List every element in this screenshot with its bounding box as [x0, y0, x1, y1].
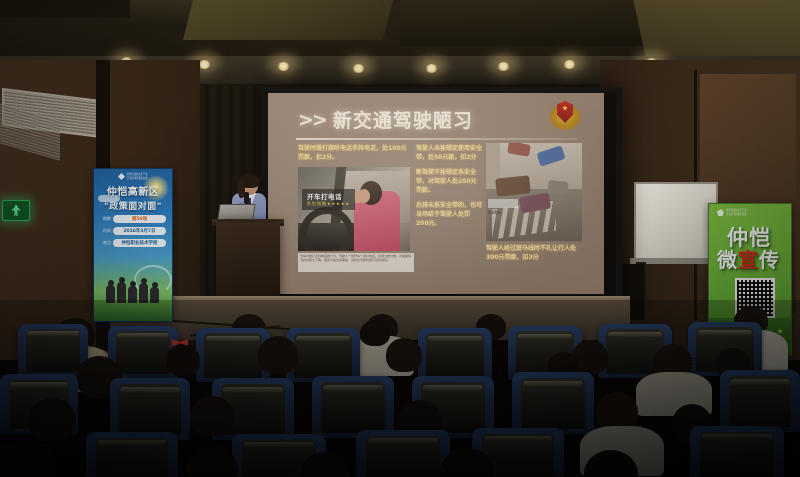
- ceiling-downlight: [497, 62, 510, 71]
- banner-info-row: 期数 第56场: [100, 215, 166, 223]
- car-icon: [507, 143, 531, 157]
- microphone-icon: [244, 192, 249, 204]
- car-icon: [547, 180, 568, 195]
- logo-line-2: 开发区管理委员会: [127, 177, 148, 181]
- photo-caption-badge: 开车打电话 危险指数★★★★★: [302, 189, 355, 210]
- banner-title-line-2: "政策面对面": [94, 199, 172, 212]
- car-icon: [495, 175, 531, 196]
- photo-fine-print: 驾车时拨打手持电话的行为，驾驶人一边开车一边打电话，注意力被分散，对路面情况的判…: [298, 253, 414, 272]
- row-key: 期数: [100, 216, 111, 222]
- title-char-2: 宣: [738, 248, 759, 272]
- slide-divider: [296, 138, 578, 140]
- title-char-1: 微: [717, 248, 738, 272]
- audience-shading: [0, 300, 800, 477]
- banner-logo: 仲恺高新技术产业 开发区管理委员会: [118, 173, 148, 181]
- banner-title-bottom: 微宣传: [717, 244, 780, 273]
- street-sign-text: kche: [488, 210, 501, 216]
- row-value: 2016年3月7日: [113, 227, 166, 235]
- rule-text-crosswalk: 驾驶人经过斑马线时不礼让行人处300元罚款，扣3分: [486, 245, 586, 262]
- slide-column-seatbelt: 驾驶人未按规定使用安全带，处50元款，扣2分 新驾驶不按规定系安全带，对驾驶人处…: [416, 145, 482, 236]
- logo-text: 仲恺高新技术产业 开发区管理委员会: [726, 209, 747, 217]
- banner-info-row: 地点 仲恺职业技术学校: [100, 239, 166, 247]
- whiteboard: [634, 182, 718, 264]
- banner-logo: 仲恺高新技术产业 开发区管理委员会: [717, 209, 757, 218]
- slide-heading-text: 新交通驾驶陋习: [333, 106, 473, 133]
- logo-line-2: 开发区管理委员会: [726, 213, 747, 217]
- slide-column-crosswalk: 驾驶人经过斑马线时不礼让行人处300元罚款，扣3分: [486, 245, 586, 262]
- fine-print-text: 驾车时拨打手持电话的行为，驾驶人一边开车一边打电话，注意力被分散，对路面情况的判…: [300, 254, 412, 262]
- auditorium-photo: >> 新交通驾驶陋习 驾驶时拨打接听电话手持电话，处100元罚款，扣2分。 开车…: [0, 0, 800, 477]
- rule-text-phone: 驾驶时拨打接听电话手持电话，处100元罚款，扣2分。: [298, 145, 410, 162]
- exit-sign-icon: [2, 200, 30, 221]
- logo-mark-icon: [118, 173, 125, 180]
- car-icon: [536, 145, 565, 166]
- ceiling-panel: [0, 0, 140, 18]
- slide-column-phone: 驾驶时拨打接听电话手持电话，处100元罚款，扣2分。: [298, 145, 410, 169]
- ceiling-panel: [183, 0, 393, 40]
- photo-label-main: 开车打电话: [307, 191, 350, 201]
- street-sign: kche: [488, 199, 518, 208]
- policy-banner: 仲恺高新技术产业 开发区管理委员会 仲恺高新区 "政策面对面" 期数 第56场 …: [93, 168, 173, 322]
- rule-text-seatbelt-2: 新驾驶不按规定系安全带，对驾驶人处200元罚款。: [416, 169, 482, 195]
- presentation-slide: >> 新交通驾驶陋习 驾驶时拨打接听电话手持电话，处100元罚款，扣2分。 开车…: [268, 93, 604, 294]
- photo-crosswalk-aerial: kche: [486, 143, 582, 241]
- ceiling-downlight: [563, 60, 576, 69]
- rule-text-seatbelt-1: 驾驶人未按规定使用安全带，处50元款，扣2分: [416, 145, 482, 162]
- logo-mark-icon: [717, 209, 724, 216]
- ceiling-downlight: [352, 64, 365, 73]
- running-man-icon: [12, 205, 20, 216]
- title-char-3: 传: [759, 248, 780, 272]
- banner-info-rows: 期数 第56场 时间 2016年3月7日 地点 仲恺职业技术学校: [100, 215, 166, 251]
- rule-text-seatbelt-3: 后排未系安全带的，也可当场给于驾驶人处罚200元。: [416, 202, 482, 228]
- people-illustration: [104, 273, 162, 303]
- logo-text: 仲恺高新技术产业 开发区管理委员会: [127, 173, 148, 181]
- audience-area: [0, 300, 800, 477]
- police-emblem-icon: [548, 101, 582, 133]
- row-value: 第56场: [113, 215, 166, 223]
- row-key: 地点: [100, 240, 111, 246]
- photo-label-sub: 危险指数★★★★★: [307, 201, 350, 207]
- banner-title: 仲恺高新区 "政策面对面": [94, 183, 172, 212]
- row-value: 仲恺职业技术学校: [113, 239, 166, 247]
- photo-driver-on-phone: 开车打电话 危险指数★★★★★: [298, 167, 410, 251]
- slide-title: >> 新交通驾驶陋习: [298, 106, 473, 133]
- row-key: 时间: [100, 228, 111, 234]
- banner-title-line-1: 仲恺高新区: [94, 183, 172, 198]
- chevron-right-icon: >>: [298, 109, 326, 131]
- ceiling-downlight: [277, 62, 290, 71]
- banner-info-row: 时间 2016年3月7日: [100, 227, 166, 235]
- ceiling-downlight: [425, 64, 438, 73]
